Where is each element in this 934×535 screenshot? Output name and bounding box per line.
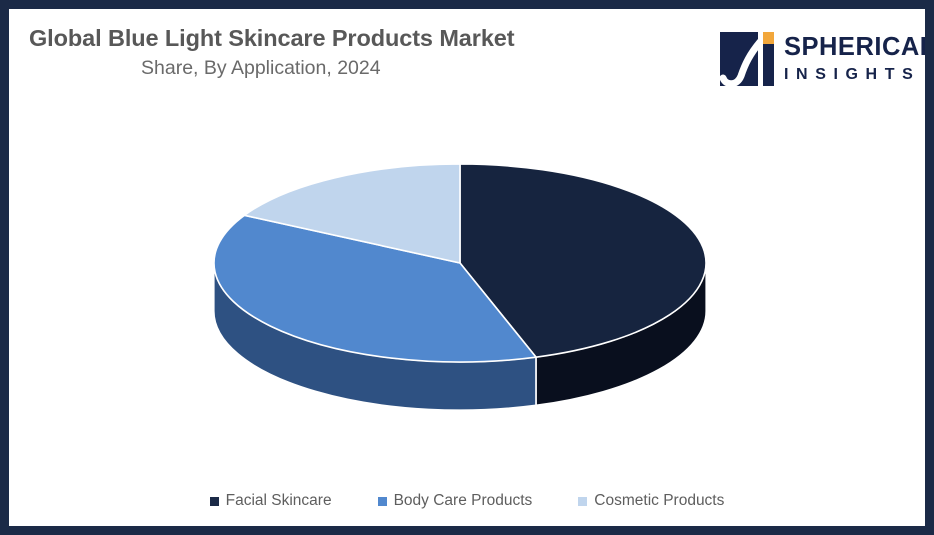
logo-word-insights: INSIGHTS — [784, 67, 934, 83]
legend-label: Facial Skincare — [226, 492, 332, 510]
spherical-insights-mark-icon — [720, 28, 778, 90]
legend-item-body-care-products[interactable]: Body Care Products — [378, 492, 533, 510]
chart-inner-frame: Global Blue Light Skincare Products Mark… — [9, 9, 925, 526]
legend-item-facial-skincare[interactable]: Facial Skincare — [210, 492, 332, 510]
legend-square-icon — [210, 497, 219, 506]
page-subtitle: Share, By Application, 2024 — [29, 57, 729, 80]
legend-square-icon — [378, 497, 387, 506]
legend-label: Cosmetic Products — [594, 492, 724, 510]
pie-slice-facial-skincare[interactable] — [460, 164, 706, 357]
brand-logo: SPHERICAL INSIGHTS — [718, 20, 914, 98]
legend-label: Body Care Products — [394, 492, 533, 510]
chart-page: Global Blue Light Skincare Products Mark… — [0, 0, 934, 535]
legend-square-icon — [578, 497, 587, 506]
pie-slice-cosmetic-products[interactable] — [244, 164, 460, 263]
title-block: Global Blue Light Skincare Products Mark… — [29, 25, 729, 81]
logo-word-spherical: SPHERICAL — [784, 35, 934, 61]
logo-wordmark: SPHERICAL INSIGHTS — [784, 35, 934, 84]
legend-item-cosmetic-products[interactable]: Cosmetic Products — [578, 492, 724, 510]
pie-top-faces — [214, 164, 706, 362]
page-title: Global Blue Light Skincare Products Mark… — [29, 25, 729, 51]
pie-side-body-care-products — [214, 263, 536, 410]
pie-sides — [214, 263, 706, 410]
chart-legend: Facial Skincare Body Care Products Cosme… — [11, 492, 923, 510]
pie-side-facial-skincare — [536, 263, 706, 405]
pie-slice-body-care-products[interactable] — [214, 215, 536, 362]
